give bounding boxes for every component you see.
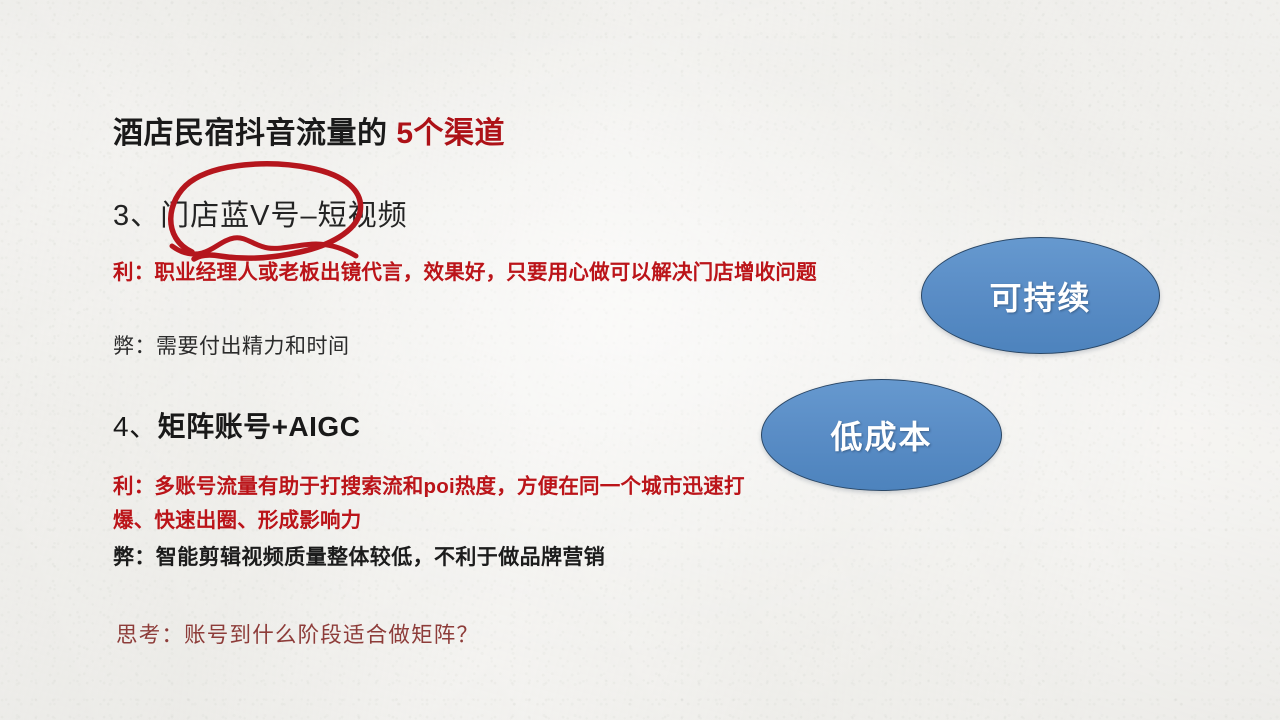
page-title-lead: 酒店民宿抖音流量的 — [113, 117, 396, 150]
section-4-pro-text: 利：多账号流量有助于打搜索流和poi热度，方便在同一个城市迅速打爆、快速出圈、形… — [113, 470, 773, 538]
section-4-heading-text: 矩阵账号+AIGC — [158, 411, 361, 442]
slide-canvas: 酒店民宿抖音流量的 5个渠道 3、门店蓝V号–短视频 利：职业经理人或老板出镜代… — [0, 0, 1280, 720]
callout-label-low-cost: 低成本 — [830, 412, 932, 458]
section-3-heading: 3、门店蓝V号–短视频 — [113, 192, 408, 234]
callout-ellipse-low-cost: 低成本 — [761, 379, 1002, 491]
callout-ellipse-sustainable: 可持续 — [921, 237, 1160, 354]
page-title-accent: 5个渠道 — [396, 117, 505, 150]
section-4-heading: 4、矩阵账号+AIGC — [113, 405, 360, 445]
section-3-con-text: 弊：需要付出精力和时间 — [113, 330, 350, 360]
page-title: 酒店民宿抖音流量的 5个渠道 — [113, 108, 505, 152]
section-3-pro-text: 利：职业经理人或老板出镜代言，效果好，只要用心做可以解决门店增收问题 — [113, 256, 913, 290]
section-4-heading-number: 4、 — [113, 411, 158, 442]
section-4-con-text: 弊：智能剪辑视频质量整体较低，不利于做品牌营销 — [113, 541, 605, 571]
callout-label-sustainable: 可持续 — [989, 273, 1091, 319]
footer-question-text: 思考：账号到什么阶段适合做矩阵？ — [116, 618, 479, 649]
